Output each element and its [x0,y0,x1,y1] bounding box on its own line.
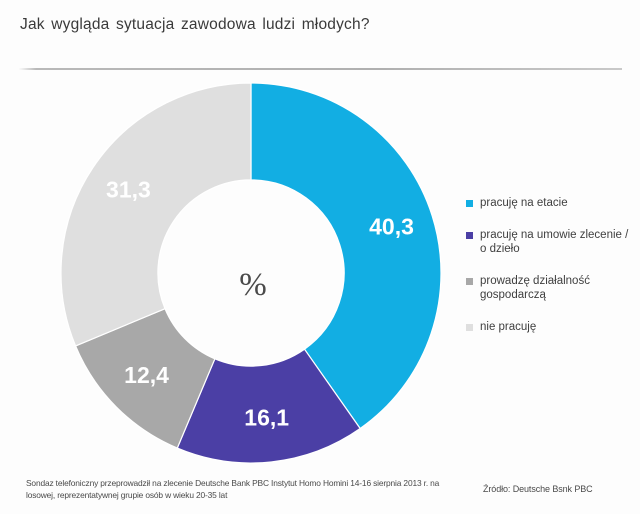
donut-chart-svg: 40,316,112,431,3 [58,80,444,466]
legend-swatch-icon [466,278,473,285]
legend-item[interactable]: pracuję na etacie [466,196,636,210]
title-divider [18,68,622,70]
legend-item-label: pracuję na etacie [480,196,568,210]
legend-item-label: prowadzę działalność gospodarczą [480,274,630,302]
legend-item[interactable]: nie pracuję [466,320,636,334]
donut-slice-value: 31,3 [106,176,151,202]
footer-methodology-note: Sondaz telefoniczny przeprowadził na zle… [26,478,446,501]
donut-slice-value: 12,4 [124,362,169,388]
legend-swatch-icon [466,324,473,331]
donut-slice-value: 40,3 [369,214,414,240]
legend-item-label: nie pracuję [480,320,536,334]
legend-swatch-icon [466,200,473,207]
donut-chart: 40,316,112,431,3 % [58,80,444,466]
legend-item[interactable]: prowadzę działalność gospodarczą [466,274,636,302]
donut-slice-value: 16,1 [244,405,289,431]
legend-swatch-icon [466,232,473,239]
legend-item-label: pracuję na umowie zlecenie / o dzieło [480,228,630,256]
footer-source: Źródło: Deutsche Bsnk PBC [483,484,593,494]
chart-legend: pracuję na etaciepracuję na umowie zlece… [466,196,636,352]
donut-slice[interactable] [61,83,251,346]
page-title: Jak wygląda sytuacja zawodowa ludzi młod… [20,16,620,34]
legend-item[interactable]: pracuję na umowie zlecenie / o dzieło [466,228,636,256]
slide-canvas: Jak wygląda sytuacja zawodowa ludzi młod… [0,0,640,514]
